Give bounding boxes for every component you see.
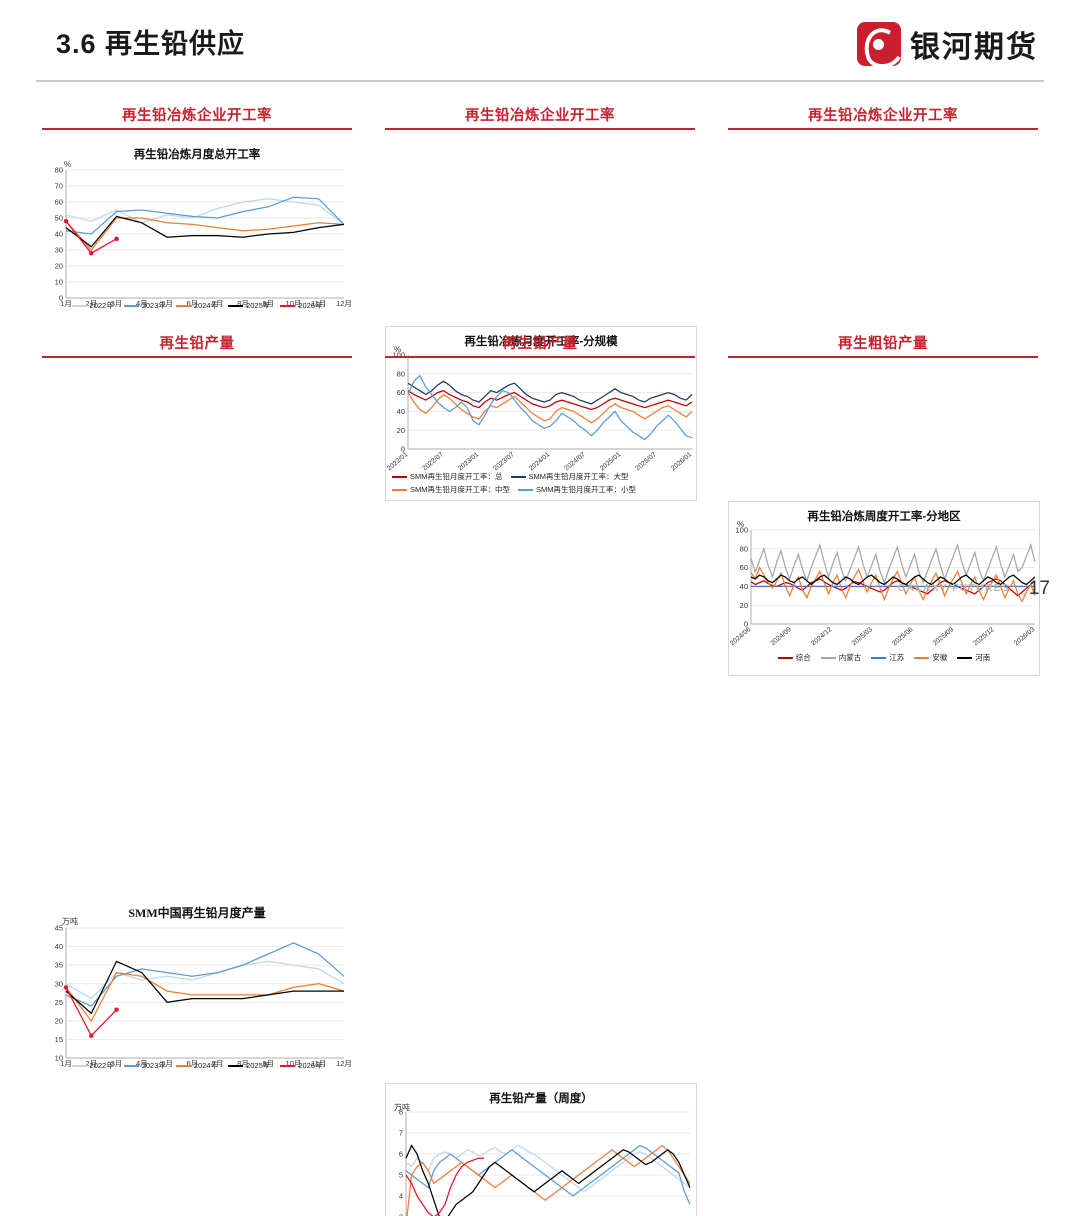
legend-label: 内蒙古 [839,652,862,663]
legend-swatch [228,1065,243,1067]
legend-swatch [280,305,295,307]
legend-swatch [914,657,929,659]
svg-text:7: 7 [399,1129,403,1138]
legend-swatch [392,489,407,491]
chart-1-title: 再生铅冶炼月度总开工率 [42,146,352,162]
panel-6: 再生粗铅产量 [728,332,1038,358]
svg-text:2025/03: 2025/03 [851,626,874,647]
svg-text:35: 35 [55,961,63,970]
svg-text:2025/06: 2025/06 [891,626,914,647]
legend-item: SMM再生铅月度开工率：小型 [518,484,636,495]
svg-text:20: 20 [740,601,748,610]
legend-item: SMM再生铅月度开工率：大型 [511,471,629,482]
svg-text:80: 80 [740,544,748,553]
svg-text:2024/01: 2024/01 [528,451,551,472]
legend-label: 安徽 [932,652,947,663]
svg-text:2025/09: 2025/09 [932,626,955,647]
svg-text:40: 40 [397,407,405,416]
svg-text:60: 60 [55,198,63,207]
chart-4-legend: 2022年2023年2024年2025年2026年 [52,1060,342,1071]
legend-item: 江苏 [871,652,904,663]
legend-swatch [72,1065,87,1067]
panel-2-title: 再生铅冶炼企业开工率 [385,104,695,125]
company-logo: 银河期货 [857,22,1038,66]
legend-item: 安徽 [914,652,947,663]
svg-text:3: 3 [399,1213,403,1216]
svg-text:2025/07: 2025/07 [634,451,657,472]
svg-text:40: 40 [55,942,63,951]
chart-monthly-total-operating-rate: 再生铅冶炼月度总开工率 % 010203040506070801月2月3月4月5… [42,140,352,320]
svg-text:100: 100 [735,526,748,535]
svg-text:30: 30 [55,246,63,255]
legend-item: SMM再生铅月度开工率：中型 [392,484,510,495]
legend-label: 河南 [975,652,990,663]
svg-text:25: 25 [55,998,63,1007]
svg-text:2026/03: 2026/03 [1013,626,1036,647]
legend-label: 2024年 [194,300,218,311]
legend-label: 江苏 [889,652,904,663]
chart-1-legend: 2022年2023年2024年2025年2026年 [52,300,342,311]
svg-text:60: 60 [397,388,405,397]
svg-text:40: 40 [740,582,748,591]
svg-text:2024/12: 2024/12 [810,626,833,647]
chart-4-title: SMM中国再生铅月度产量 [42,904,352,921]
svg-text:20: 20 [55,1016,63,1025]
legend-item: 河南 [957,652,990,663]
chart-3-legend: 综合内蒙古江苏安徽河南 [735,652,1033,663]
legend-label: 2023年 [142,1060,166,1071]
slide-root: 3.6 再生铅供应 银河期货 再生铅冶炼企业开工率 再生铅冶炼月度总开工率 % … [0,0,1080,608]
panel-6-title: 再生粗铅产量 [728,332,1038,353]
panel-5: 再生铅产量 [385,332,695,358]
svg-text:40: 40 [55,230,63,239]
legend-item: 综合 [778,652,811,663]
legend-item: 2025年 [228,300,270,311]
legend-swatch [228,305,243,307]
panel-2: 再生铅冶炼企业开工率 [385,104,695,130]
svg-text:2022/01: 2022/01 [386,451,409,472]
header-divider [36,80,1044,82]
legend-item: 2022年 [72,1060,114,1071]
svg-text:45: 45 [55,924,63,933]
panel-1: 再生铅冶炼企业开工率 [42,104,352,130]
svg-text:2024/06: 2024/06 [729,626,752,647]
panel-2-rule [385,128,695,130]
svg-text:70: 70 [55,182,63,191]
legend-swatch [124,1065,139,1067]
svg-text:80: 80 [55,166,63,175]
panel-4-title: 再生铅产量 [42,332,352,353]
legend-swatch [176,1065,191,1067]
svg-text:2026/01: 2026/01 [670,451,693,472]
svg-text:20: 20 [55,262,63,271]
svg-text:2025/01: 2025/01 [599,451,622,472]
legend-item: 内蒙古 [821,652,862,663]
panel-3-rule [728,128,1038,130]
svg-text:20: 20 [397,426,405,435]
legend-item: 2023年 [124,300,166,311]
panel-1-title: 再生铅冶炼企业开工率 [42,104,352,125]
legend-label: 2026年 [298,300,322,311]
svg-text:5: 5 [399,1171,403,1180]
svg-text:2023/01: 2023/01 [457,451,480,472]
panel-3: 再生铅冶炼企业开工率 [728,104,1038,130]
legend-item: 2026年 [280,300,322,311]
svg-text:4: 4 [399,1192,403,1201]
legend-label: 2024年 [194,1060,218,1071]
panel-5-title: 再生铅产量 [385,332,695,353]
svg-text:10: 10 [55,278,63,287]
svg-text:30: 30 [55,979,63,988]
panel-6-rule [728,356,1038,358]
legend-label: 2023年 [142,300,166,311]
panel-4: 再生铅产量 [42,332,352,358]
page-title: 3.6 再生铅供应 [56,22,245,61]
legend-label: 综合 [796,652,811,663]
svg-text:6: 6 [399,1150,403,1159]
legend-swatch [778,657,793,659]
svg-text:2023/07: 2023/07 [492,451,515,472]
legend-item: 2024年 [176,300,218,311]
svg-text:80: 80 [397,369,405,378]
panel-1-rule [42,128,352,130]
legend-swatch [518,489,533,491]
panel-5-rule [385,356,695,358]
legend-swatch [392,476,407,478]
legend-label: SMM再生铅月度开工率：小型 [536,484,636,495]
legend-swatch [871,657,886,659]
legend-item: 2024年 [176,1060,218,1071]
page-number: 17 [1029,578,1050,600]
legend-swatch [821,657,836,659]
chart-smm-monthly-output: SMM中国再生铅月度产量 万吨 10152025303540451月2月3月4月… [42,898,352,1083]
legend-swatch [957,657,972,659]
legend-label: SMM再生铅月度开工率：大型 [529,471,629,482]
legend-label: SMM再生铅月度开工率：中型 [410,484,510,495]
svg-text:2025/12: 2025/12 [972,626,995,647]
legend-label: 2025年 [246,1060,270,1071]
legend-label: 2022年 [90,1060,114,1071]
company-name: 银河期货 [910,22,1038,66]
legend-swatch [280,1065,295,1067]
svg-text:15: 15 [55,1035,63,1044]
legend-swatch [124,305,139,307]
panel-3-title: 再生铅冶炼企业开工率 [728,104,1038,125]
chart-weekly-output: 再生铅产量（周度） 万吨 234567801020304050607080910… [385,1083,697,1216]
legend-label: SMM再生铅月度开工率：总 [410,471,503,482]
svg-text:2022/07: 2022/07 [421,451,444,472]
svg-text:8: 8 [399,1108,403,1117]
legend-swatch [176,305,191,307]
svg-text:60: 60 [740,563,748,572]
legend-swatch [511,476,526,478]
svg-text:2024/07: 2024/07 [563,451,586,472]
legend-item: 2025年 [228,1060,270,1071]
galaxy-logo-icon [857,22,901,66]
legend-swatch [72,305,87,307]
chart-2-legend: SMM再生铅月度开工率：总SMM再生铅月度开工率：大型SMM再生铅月度开工率：中… [392,471,690,495]
legend-label: 2022年 [90,300,114,311]
panel-4-rule [42,356,352,358]
legend-item: 2022年 [72,300,114,311]
legend-label: 2025年 [246,300,270,311]
svg-text:2024/09: 2024/09 [770,626,793,647]
footer-brand: GALAXY FUTURES [898,583,1011,594]
legend-label: 2026年 [298,1060,322,1071]
legend-item: SMM再生铅月度开工率：总 [392,471,503,482]
legend-item: 2026年 [280,1060,322,1071]
svg-text:50: 50 [55,214,63,223]
legend-item: 2023年 [124,1060,166,1071]
